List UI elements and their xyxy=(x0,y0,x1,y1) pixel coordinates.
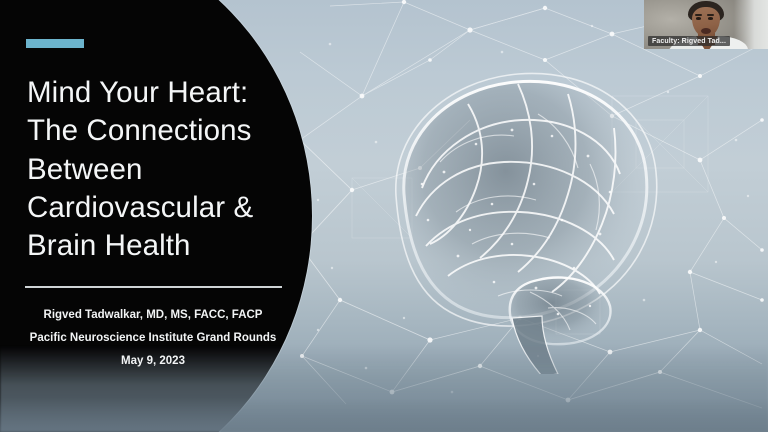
presentation-date: May 9, 2023 xyxy=(10,350,296,373)
speaker-eyebrow-left xyxy=(695,14,702,16)
slide-subtitle-block: Rigved Tadwalkar, MD, MS, FACC, FACP Pac… xyxy=(10,304,296,374)
accent-bar xyxy=(26,39,84,48)
speaker-eye-right xyxy=(708,17,713,20)
presenter-name: Rigved Tadwalkar, MD, MS, FACC, FACP xyxy=(10,304,296,327)
title-panel-content: Mind Your Heart: The Connections Between… xyxy=(0,0,300,432)
event-name: Pacific Neuroscience Institute Grand Rou… xyxy=(10,327,296,350)
presentation-slide: Mind Your Heart: The Connections Between… xyxy=(0,0,768,432)
page-title: Mind Your Heart: The Connections Between… xyxy=(27,74,295,266)
brain-illustration xyxy=(352,44,682,374)
title-divider xyxy=(25,286,282,288)
speaker-eyebrow-right xyxy=(707,14,714,16)
speaker-eye-left xyxy=(696,17,701,20)
participant-name-label: Faculty: Rigved Tad... xyxy=(648,36,730,46)
speaker-mouth xyxy=(701,28,711,34)
speaker-video-tile[interactable]: Faculty: Rigved Tad... xyxy=(644,0,768,49)
